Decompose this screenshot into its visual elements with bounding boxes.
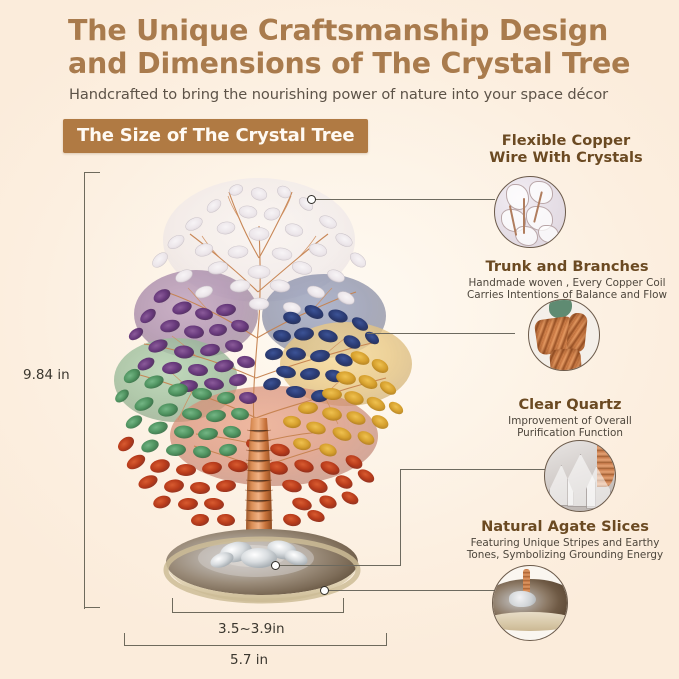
- crystal-tree-image: [96, 168, 426, 618]
- callout-2-title: Trunk and Branches: [460, 258, 674, 275]
- copper-wire-strand: [523, 198, 525, 234]
- callout-3-connector-segment-horizontal-lower: [275, 565, 401, 566]
- base-dimension-label: 3.5~3.9in: [218, 621, 285, 637]
- title-line-2: and Dimensions of The Crystal Tree: [68, 47, 658, 80]
- callout-1-title-line-2: Wire With Crystals: [489, 149, 642, 166]
- width-dimension-tick-left: [124, 633, 125, 646]
- title-line-1: The Unique Craftsmanship Design: [68, 14, 608, 47]
- base-dimension-line: [172, 612, 344, 613]
- height-dimension-tick-top: [84, 172, 100, 173]
- crystal-chip: [538, 225, 558, 244]
- callout-4-subtitle: Featuring Unique Stripes and Earthy Tone…: [452, 537, 678, 562]
- page-subtitle: Handcrafted to bring the nourishing powe…: [69, 86, 669, 103]
- callout-2-subtitle: Handmade woven , Every Copper Coil Carri…: [460, 277, 674, 302]
- callout-3-connector-segment-horizontal-upper: [400, 469, 548, 470]
- clear-quartz-points-inset: [544, 440, 616, 512]
- callout-3-title: Clear Quartz: [470, 396, 670, 413]
- size-section-banner: The Size of The Crystal Tree: [63, 119, 368, 153]
- base-dimension-tick-right: [343, 598, 344, 613]
- callout-4-title: Natural Agate Slices: [452, 518, 678, 535]
- callout-1-title: Flexible Copper Wire With Crystals: [462, 132, 670, 166]
- page-title: The Unique Craftsmanship Design and Dime…: [68, 14, 658, 80]
- callout-clear-quartz: Clear Quartz Improvement of Overall Puri…: [470, 396, 670, 440]
- copper-coil-inset: [528, 299, 600, 371]
- base-dimension-tick-left: [172, 598, 173, 613]
- callout-3-subtitle-line-1: Improvement of Overall: [508, 415, 632, 427]
- copper-coil-wrap: [549, 348, 581, 371]
- callout-4-subtitle-line-2: Tones, Symbolizing Grounding Energy: [467, 549, 663, 561]
- callout-2-connector-line: [367, 333, 515, 334]
- callout-3-connector-segment-vertical: [400, 469, 401, 566]
- height-dimension-label: 9.84 in: [23, 367, 70, 383]
- width-dimension-label: 5.7 in: [230, 652, 268, 668]
- agate-druzy-rim: [492, 612, 568, 631]
- copper-coil-wrap: [566, 312, 588, 353]
- callout-2-subtitle-line-1: Handmade woven , Every Copper Coil: [468, 277, 665, 289]
- callout-trunk-and-branches: Trunk and Branches Handmade woven , Ever…: [460, 258, 674, 302]
- callout-natural-agate-slices: Natural Agate Slices Featuring Unique St…: [452, 518, 678, 562]
- width-dimension-line: [124, 645, 387, 646]
- quartz-cluster: [509, 591, 536, 607]
- callout-1-connector-line: [315, 199, 495, 200]
- width-dimension-tick-right: [386, 633, 387, 646]
- callout-3-anchor-dot: [271, 561, 280, 570]
- callout-1-title-line-1: Flexible Copper: [502, 132, 630, 149]
- callout-1-anchor-dot: [307, 195, 316, 204]
- callout-4-anchor-dot: [320, 586, 329, 595]
- height-dimension-line: [84, 172, 85, 609]
- green-leaf-chip: [549, 299, 573, 318]
- crystal-chip: [515, 226, 538, 246]
- callout-flexible-copper-wire: Flexible Copper Wire With Crystals: [462, 132, 670, 166]
- callout-4-subtitle-line-1: Featuring Unique Stripes and Earthy: [471, 537, 660, 549]
- callout-3-subtitle-line-2: Purification Function: [517, 427, 623, 439]
- callout-3-subtitle: Improvement of Overall Purification Func…: [470, 415, 670, 440]
- clear-crystal-chips-inset: [494, 176, 566, 248]
- agate-slice-inset: [492, 565, 568, 641]
- infographic-canvas: The Unique Craftsmanship Design and Dime…: [0, 0, 679, 679]
- size-section-banner-label: The Size of The Crystal Tree: [77, 125, 354, 146]
- height-dimension-tick-bottom: [84, 607, 100, 608]
